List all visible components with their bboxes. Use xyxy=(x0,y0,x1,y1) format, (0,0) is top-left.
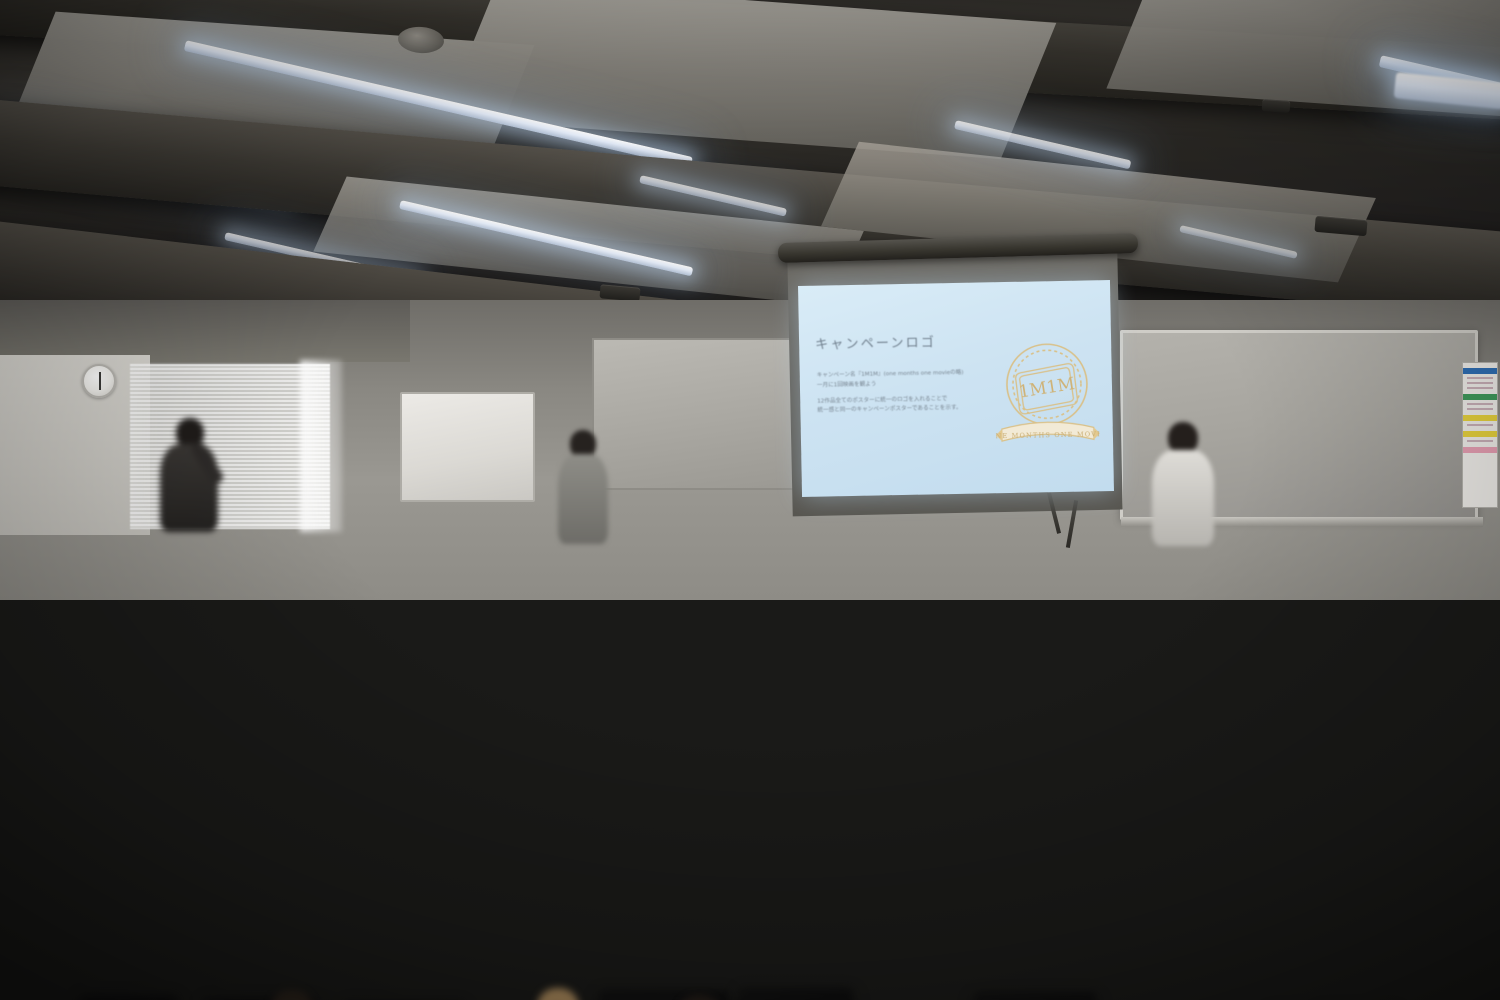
slide-body-line: 12作品全てのポスターに統一のロゴを入れることで xyxy=(817,396,947,404)
poster-band xyxy=(1463,447,1497,453)
ceiling xyxy=(0,0,1500,330)
person-head xyxy=(677,995,721,1000)
poster-line xyxy=(1467,403,1494,405)
person-head xyxy=(270,990,314,1000)
wall-notice-poster xyxy=(1462,362,1498,508)
poster-line xyxy=(1467,424,1494,426)
seated-student xyxy=(525,988,591,1000)
slide-body-line: 一月に1回映画を観よう xyxy=(817,381,877,388)
poster-line xyxy=(1467,387,1494,389)
poster-band xyxy=(1463,415,1497,421)
person-head xyxy=(537,988,579,1000)
poster-band xyxy=(1463,394,1497,400)
monitor xyxy=(975,992,1095,1000)
poster-line xyxy=(1467,440,1494,442)
seated-student xyxy=(258,990,328,1000)
ceiling-speaker-icon xyxy=(1262,99,1291,113)
wall-upper-left xyxy=(0,300,410,362)
slide-body: キャンペーン名『1M1M』(one months one movieの略) 一月… xyxy=(817,368,998,423)
slide-title: キャンペーンロゴ xyxy=(815,331,936,352)
monitor xyxy=(740,988,852,1000)
slide-body-line: 統一感と同一のキャンペーンポスターであることを示す。 xyxy=(817,405,961,414)
projected-slide: キャンペーンロゴ キャンペーン名『1M1M』(one months one mo… xyxy=(798,280,1114,497)
classroom-photo: キャンペーンロゴ キャンペーン名『1M1M』(one months one mo… xyxy=(0,0,1500,1000)
slide-body-line: キャンペーン名『1M1M』(one months one movieの略) xyxy=(817,370,964,379)
poster-band xyxy=(1463,368,1497,374)
logo-mark-text: 1M1M xyxy=(1017,374,1076,403)
logo-banner-text: ONE MONTHS ONE MOVIE xyxy=(994,430,1100,440)
wall-clock-icon xyxy=(82,364,116,398)
seated-student xyxy=(665,995,735,1000)
whiteboard-small xyxy=(400,392,535,502)
poster-line xyxy=(1467,377,1494,379)
monitor xyxy=(80,995,176,1000)
campaign-logo-emblem-icon: 1M1M ONE MONTHS ONE MOVIE xyxy=(994,335,1100,457)
ceiling-panel xyxy=(442,0,1056,159)
poster-line xyxy=(1467,382,1494,384)
audience-area: キャンペーンロゴ キャンペーン名『1M1M』(one months one mo… xyxy=(0,490,1500,1000)
poster-band xyxy=(1463,431,1497,437)
poster-line xyxy=(1467,408,1494,410)
